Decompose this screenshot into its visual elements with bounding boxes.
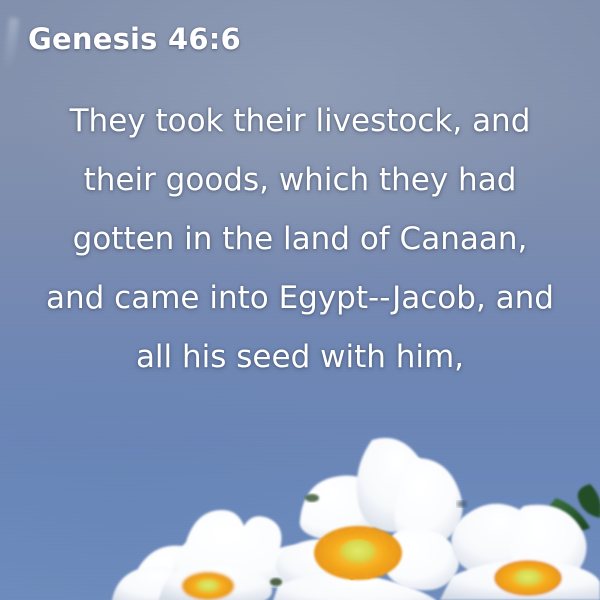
verse-line-1: They took their livestock, and (0, 92, 600, 151)
verse-line-5: all his seed with him, (0, 328, 600, 387)
verse-reference-title: Genesis 46:6 (28, 22, 241, 56)
verse-image-canvas: Genesis 46:6 They took their livestock, … (0, 0, 600, 600)
verse-line-4: and came into Egypt--Jacob, and (0, 269, 600, 328)
verse-line-2: their goods, which they had (0, 151, 600, 210)
verse-line-3: gotten in the land of Canaan, (0, 210, 600, 269)
verse-body: They took their livestock, and their goo… (0, 92, 600, 387)
